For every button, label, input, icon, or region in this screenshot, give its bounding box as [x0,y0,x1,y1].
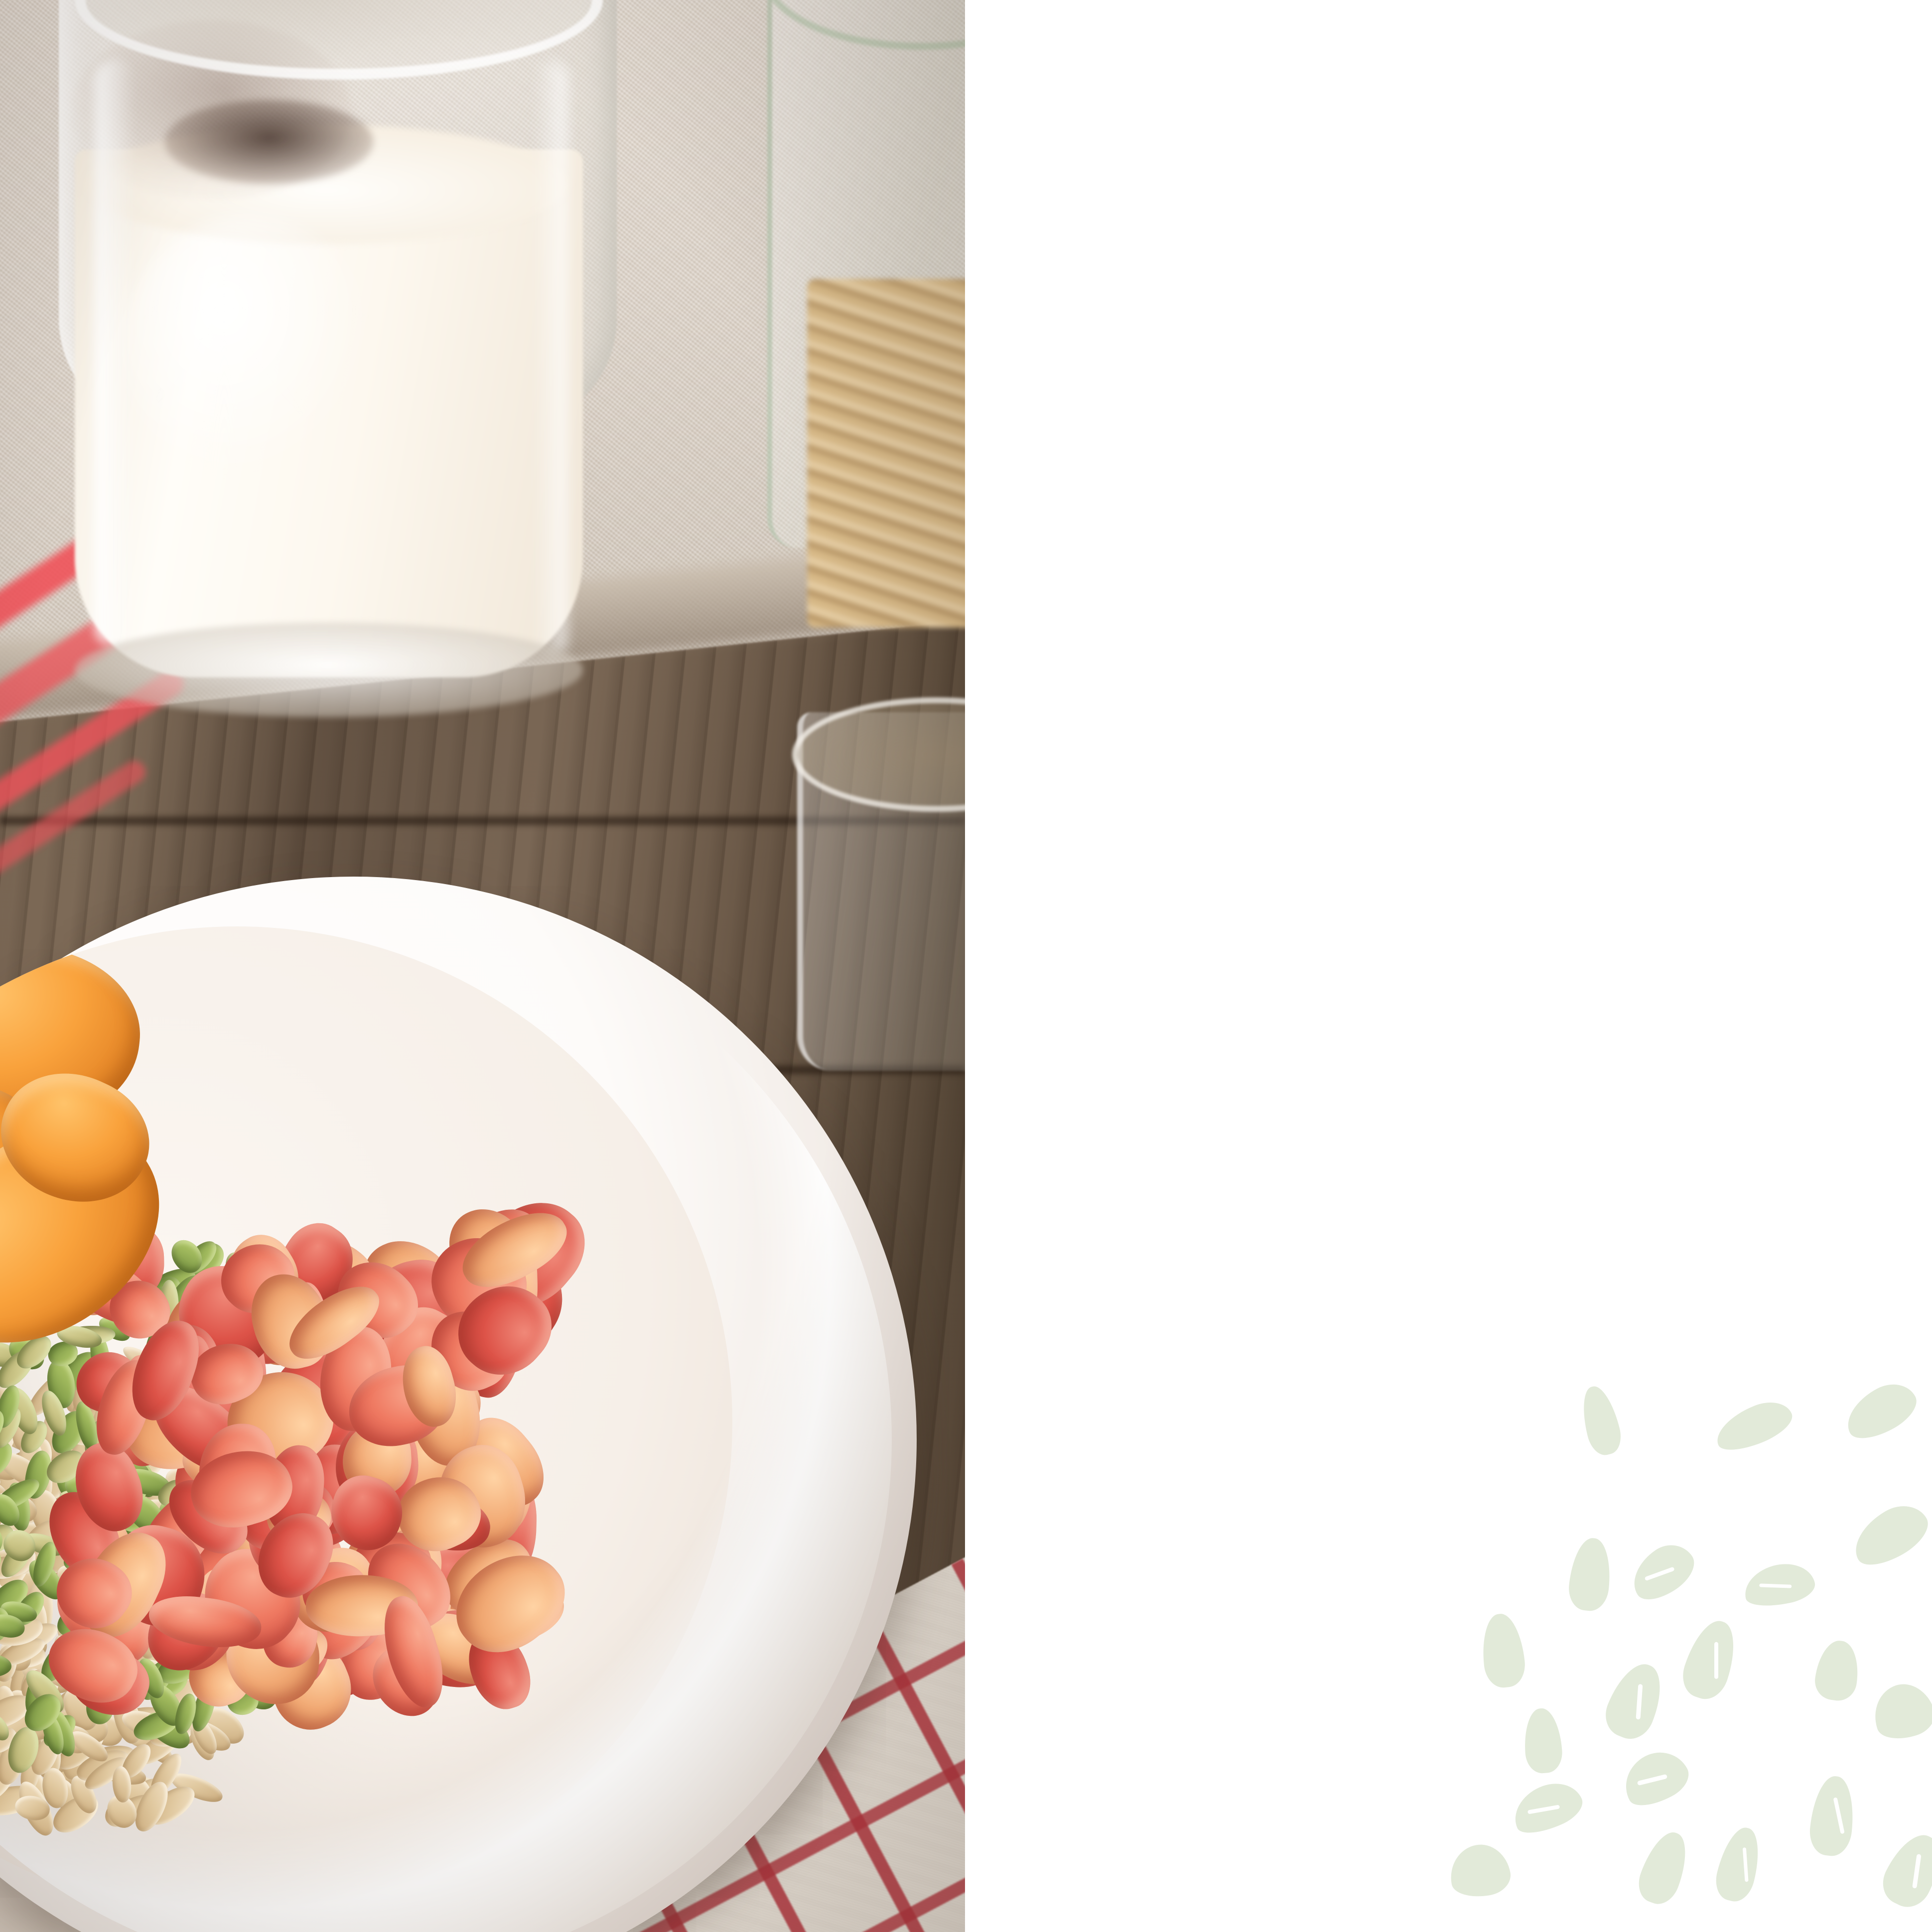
seed-shape [1676,1615,1744,1704]
seed-highlight [1833,1797,1845,1834]
seed-shape [1807,1774,1857,1858]
milk-highlight [125,214,374,483]
seed-shape [1446,1840,1514,1901]
seed-highlight [1645,1567,1675,1581]
recipe-card: Directions to Use You can munch on these… [0,0,1932,1932]
seed-shape [1576,1383,1625,1458]
seed-highlight [1527,1804,1560,1814]
seed-shape [1866,1676,1932,1746]
seed-shape [1479,1612,1527,1689]
seed-shape [1710,1394,1797,1458]
milk-jar-spout-shadow [164,100,374,184]
oats-inside-jar [807,279,965,628]
seed-shape [1838,1375,1924,1447]
seed-shape [1875,1826,1932,1915]
text-panel: Directions to Use You can munch on these… [965,0,1932,1932]
seed-shape [1506,1774,1588,1841]
seed-highlight [1637,1774,1667,1786]
seed-shape [1567,1536,1614,1613]
milk-jar-right-highlight [533,60,568,657]
seed-highlight [1759,1583,1792,1588]
seed-shape [1615,1742,1695,1815]
seed-highlight [1912,1854,1922,1889]
milk-jar-base [75,623,583,717]
food-photograph [0,0,965,1932]
seed-highlight [1636,1684,1643,1719]
seed-highlight [1714,1642,1718,1679]
seed-shape [1599,1657,1672,1746]
seed-shape [1711,1823,1766,1905]
seed-shape [1740,1558,1818,1612]
seed-shape [1522,1707,1564,1775]
seed-decoration-layer [965,0,1932,1932]
milk-jar-left-highlight [95,60,135,647]
seed-shape [1812,1638,1862,1703]
seed-highlight [1743,1847,1749,1882]
seed-shape [1844,1495,1932,1575]
seed-shape [1623,1535,1702,1609]
seed-shape [1633,1826,1695,1909]
